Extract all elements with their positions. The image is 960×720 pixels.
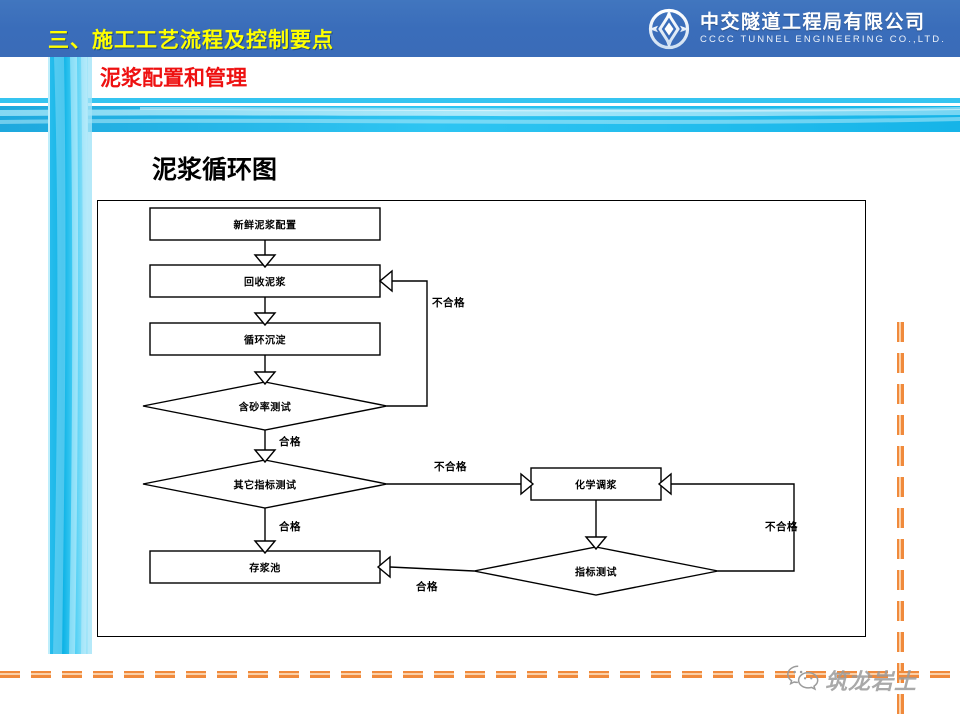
flow-node-7-label: 化学调浆 <box>575 477 617 492</box>
edge-label-pass-index: 合格 <box>416 579 438 594</box>
section-subtitle: 泥浆配置和管理 <box>100 62 247 92</box>
edge-label-reject-index: 不合格 <box>765 519 798 534</box>
slide-canvas: 三、施工工艺流程及控制要点 中交隧道工程局有限公司 <box>0 0 960 720</box>
edge-label-pass-sand: 合格 <box>279 434 301 449</box>
company-logo-text: 中交隧道工程局有限公司 CCCC TUNNEL ENGINEERING CO.,… <box>700 13 946 45</box>
vertical-ribbon-decoration <box>48 57 92 654</box>
compass-diamond-logo-icon <box>646 6 692 52</box>
watermark-text: 筑龙岩土 <box>825 664 917 696</box>
watermark: 筑龙岩土 <box>786 660 917 700</box>
flowchart: 新鲜泥浆配置 回收泥浆 循环沉淀 含砂率测试 其它指标测试 存浆池 化学调浆 指… <box>97 200 866 637</box>
wechat-icon <box>786 664 820 696</box>
edge-label-reject-sand: 不合格 <box>432 295 465 310</box>
company-name-cn: 中交隧道工程局有限公司 <box>700 13 946 32</box>
edge-label-reject-other: 不合格 <box>434 459 467 474</box>
horizontal-ribbon-decoration <box>0 98 960 132</box>
flow-node-3-label: 循环沉淀 <box>244 332 286 347</box>
flow-node-2-label: 回收泥浆 <box>244 274 286 289</box>
company-name-en: CCCC TUNNEL ENGINEERING CO.,LTD. <box>700 35 946 45</box>
company-logo: 中交隧道工程局有限公司 CCCC TUNNEL ENGINEERING CO.,… <box>646 5 946 53</box>
flow-node-8-label: 指标测试 <box>575 564 617 579</box>
edge-label-pass-other: 合格 <box>279 519 301 534</box>
flow-node-1-label: 新鲜泥浆配置 <box>234 217 297 232</box>
flow-node-5-label: 其它指标测试 <box>234 477 297 492</box>
flowchart-title: 泥浆循环图 <box>152 150 277 186</box>
page-title: 三、施工工艺流程及控制要点 <box>48 24 334 54</box>
flow-node-6-label: 存浆池 <box>249 560 281 575</box>
flow-node-4-label: 含砂率测试 <box>239 399 292 414</box>
